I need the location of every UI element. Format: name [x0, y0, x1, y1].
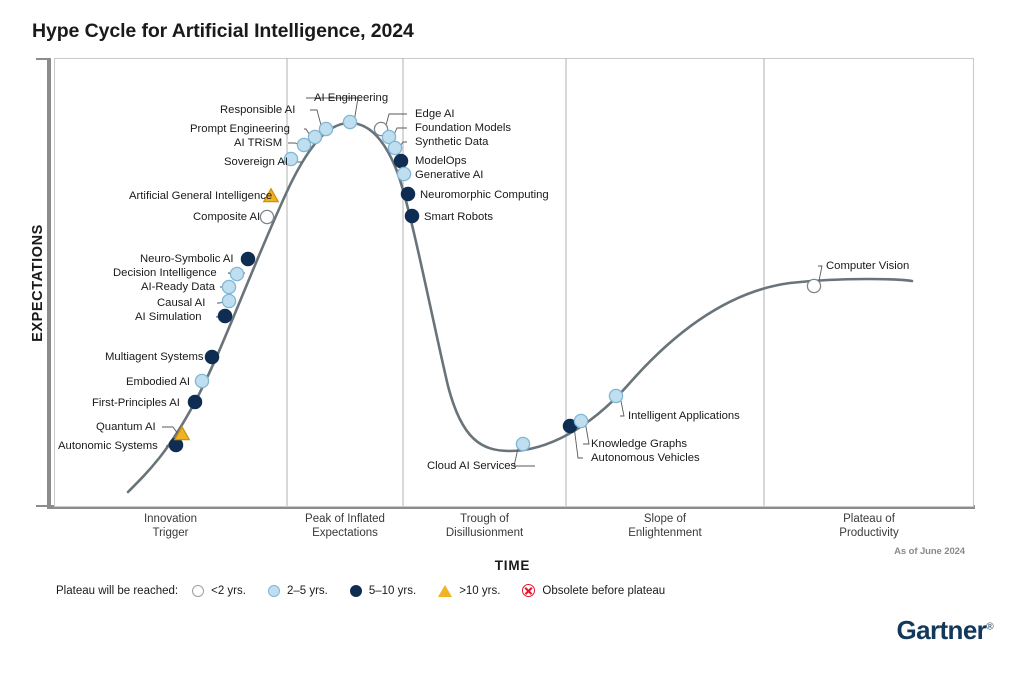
x-axis-label: TIME: [0, 558, 1025, 573]
phase-label-4: Slope ofEnlightenment: [566, 512, 764, 540]
legend-label: >10 yrs.: [459, 585, 500, 597]
phase-label-line1: Innovation: [54, 512, 287, 526]
data-point-label: Prompt Engineering: [190, 123, 290, 135]
legend-swatch-circle-dark-icon: [350, 585, 362, 597]
data-point-label: Neuromorphic Computing: [420, 189, 549, 201]
registered-mark: ®: [986, 621, 993, 632]
data-point-label: Intelligent Applications: [628, 410, 740, 422]
data-point-label: AI-Ready Data: [141, 281, 215, 293]
gartner-wordmark: Gartner: [896, 615, 986, 645]
legend: Plateau will be reached: <2 yrs.2–5 yrs.…: [56, 584, 687, 597]
phase-label-line1: Slope of: [566, 512, 764, 526]
data-point-label: AI TRiSM: [234, 137, 282, 149]
data-point-label: AI Engineering: [314, 92, 388, 104]
legend-title: Plateau will be reached:: [56, 585, 178, 597]
phase-label-3: Trough ofDisillusionment: [403, 512, 566, 540]
legend-item-1[interactable]: <2 yrs.: [192, 585, 246, 597]
data-point-label: Causal AI: [157, 297, 205, 309]
phase-label-line1: Trough of: [403, 512, 566, 526]
data-point-label: Decision Intelligence: [113, 267, 217, 279]
legend-label: <2 yrs.: [211, 585, 246, 597]
data-point-label: Generative AI: [415, 169, 483, 181]
legend-swatch-triangle-icon: [438, 585, 452, 597]
data-point-label: Knowledge Graphs: [591, 438, 687, 450]
as-of-note: As of June 2024: [894, 546, 965, 557]
page-title: Hype Cycle for Artificial Intelligence, …: [32, 20, 414, 43]
data-point-label: Smart Robots: [424, 211, 493, 223]
legend-item-2[interactable]: 2–5 yrs.: [268, 585, 328, 597]
gartner-logo: Gartner®: [896, 615, 993, 646]
phase-label-line2: Productivity: [764, 526, 974, 540]
data-point-label: Cloud AI Services: [427, 460, 516, 472]
phase-label-line2: Disillusionment: [403, 526, 566, 540]
legend-label: 2–5 yrs.: [287, 585, 328, 597]
y-axis-tick-top: [36, 58, 48, 60]
data-point-label: Composite AI: [193, 211, 260, 223]
data-point-label: ModelOps: [415, 155, 467, 167]
legend-label: 5–10 yrs.: [369, 585, 416, 597]
phase-label-line2: Expectations: [287, 526, 403, 540]
y-axis-label: EXPECTATIONS: [30, 183, 46, 383]
data-point-label: Responsible AI: [220, 104, 295, 116]
data-point-label: Artificial General Intelligence: [129, 190, 272, 202]
data-point-label: AI Simulation: [135, 311, 202, 323]
data-point-label: Foundation Models: [415, 122, 511, 134]
data-point-label: Edge AI: [415, 108, 455, 120]
legend-label: Obsolete before plateau: [542, 585, 665, 597]
data-point-label: Neuro-Symbolic AI: [140, 253, 234, 265]
data-point-label: Autonomous Vehicles: [591, 452, 700, 464]
data-point-label: First-Principles AI: [92, 397, 180, 409]
phase-label-5: Plateau ofProductivity: [764, 512, 974, 540]
phase-label-line2: Enlightenment: [566, 526, 764, 540]
phase-label-line2: Trigger: [54, 526, 287, 540]
phase-label-2: Peak of InflatedExpectations: [287, 512, 403, 540]
data-point-label: Autonomic Systems: [58, 440, 158, 452]
data-point-label: Sovereign AI: [224, 156, 288, 168]
data-point-label: Multiagent Systems: [105, 351, 204, 363]
legend-item-4[interactable]: >10 yrs.: [438, 585, 500, 597]
y-axis-line: [47, 58, 51, 507]
legend-swatch-circle-open-icon: [192, 585, 204, 597]
phase-label-1: InnovationTrigger: [54, 512, 287, 540]
legend-swatch-circle-light-icon: [268, 585, 280, 597]
phase-label-line1: Plateau of: [764, 512, 974, 526]
legend-swatch-obsolete-x-icon: [522, 584, 535, 597]
data-point-label: Computer Vision: [826, 260, 909, 272]
data-point-label: Synthetic Data: [415, 136, 488, 148]
phase-label-line1: Peak of Inflated: [287, 512, 403, 526]
data-point-label: Quantum AI: [96, 421, 156, 433]
legend-item-3[interactable]: 5–10 yrs.: [350, 585, 416, 597]
legend-item-5[interactable]: Obsolete before plateau: [522, 584, 665, 597]
data-point-label: Embodied AI: [126, 376, 190, 388]
